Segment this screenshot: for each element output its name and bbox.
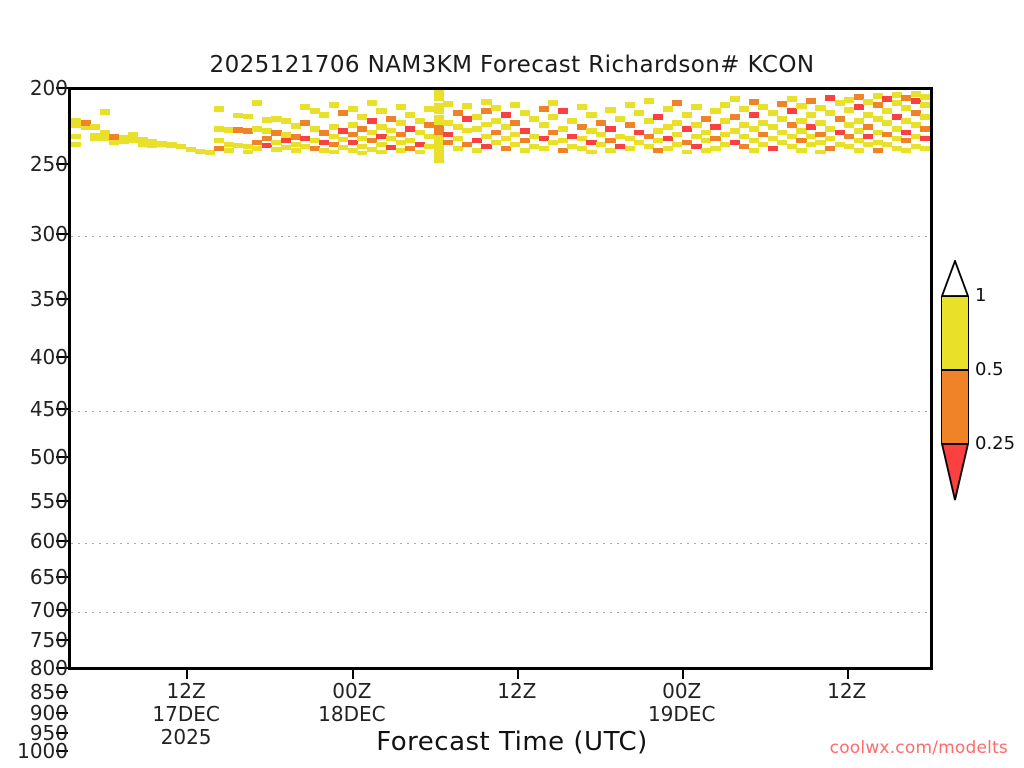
x-tick-label: 12Z (827, 680, 866, 703)
heatmap-cell (873, 148, 883, 153)
colorbar-upper-arrow-icon (941, 260, 969, 297)
heatmap-cell (491, 105, 501, 111)
heatmap-cell (653, 114, 663, 120)
heatmap-cell (472, 114, 482, 120)
heatmap-cell (396, 104, 406, 110)
heatmap-cell (443, 101, 453, 107)
y-tick-label: 250 (6, 152, 68, 176)
colorbar-tick-label: 0.5 (975, 359, 1004, 380)
heatmap-cell (319, 112, 329, 118)
heatmap-cell (672, 100, 682, 106)
heatmap-cell (596, 132, 606, 137)
heatmap-cell (539, 146, 549, 151)
heatmap-cell (701, 130, 711, 135)
y-tick-label: 750 (6, 628, 68, 652)
heatmap-cell (548, 100, 558, 106)
heatmap-cell (720, 102, 730, 108)
watermark: coolwx.com/modelts (830, 738, 1008, 758)
heatmap-cell (329, 150, 339, 154)
y-tick-label: 350 (6, 287, 68, 311)
x-tick-label: 00Z19DEC (648, 680, 715, 726)
y-tick-label: 300 (6, 222, 68, 246)
heatmap-cell (625, 146, 635, 151)
heatmap-cell (376, 150, 386, 154)
colorbar-legend: 10.50.25 (941, 296, 969, 448)
y-tick-label: 500 (6, 445, 68, 469)
heatmap-cell (548, 114, 558, 120)
heatmap-cell (539, 106, 549, 112)
heatmap-cell (558, 126, 568, 132)
heatmap-cell (434, 90, 444, 101)
y-tick-label: 800 (6, 656, 68, 680)
heatmap-cell (920, 94, 930, 100)
heatmap-cell (577, 104, 587, 110)
heatmap-cell (453, 136, 463, 141)
heatmap-cell (682, 150, 692, 154)
heatmap-cell (586, 112, 596, 118)
heatmap-cell (920, 126, 930, 132)
x-tick-mark (186, 670, 188, 679)
y-tick-label: 700 (6, 598, 68, 622)
heatmap-cell (920, 102, 930, 108)
heatmap-cell (424, 144, 434, 149)
heatmap-cell (539, 122, 549, 128)
heatmap-cell (100, 109, 110, 115)
heatmap-cell (367, 100, 377, 106)
heatmap-cell (701, 116, 711, 122)
heatmap-cell (710, 124, 720, 130)
heatmap-cell (710, 108, 720, 114)
y-tick-label: 200 (6, 76, 68, 100)
y-tick-label: 400 (6, 345, 68, 369)
heatmap-cell (682, 112, 692, 118)
heatmap-cell (625, 102, 635, 108)
heatmap-cell (586, 150, 596, 154)
heatmap-cell (510, 102, 520, 108)
heatmap-cell (376, 108, 386, 114)
heatmap-cell (663, 106, 673, 112)
heatmap-cell (920, 146, 930, 151)
heatmap-cell (749, 148, 759, 153)
heatmap-cell (854, 148, 864, 153)
heatmap-cell (224, 148, 234, 153)
heatmap-cell (806, 112, 816, 118)
colorbar-tick-label: 1 (975, 285, 986, 306)
heatmap-cell (796, 148, 806, 153)
heatmap-cell (491, 130, 501, 135)
x-tick-mark (682, 670, 684, 679)
y-tick-label: 600 (6, 529, 68, 553)
heatmap-cell (510, 120, 520, 126)
x-tick-mark (847, 670, 849, 679)
heatmap-cell (424, 134, 434, 139)
x-tick-label: 00Z18DEC (318, 680, 385, 726)
colorbar-tick-label: 0.25 (975, 433, 1015, 454)
colorbar-band-mid (941, 370, 969, 444)
heatmap-cell (920, 136, 930, 141)
x-tick-mark (352, 670, 354, 679)
heatmap-cell (243, 114, 253, 119)
x-tick-label: 12Z (497, 680, 536, 703)
x-tick-mark (517, 670, 519, 679)
heatmap-cell (625, 122, 635, 128)
heatmap-cells (71, 90, 930, 667)
colorbar-lower-arrow-icon (941, 443, 969, 501)
heatmap-cell (558, 108, 568, 114)
heatmap-cell (434, 152, 444, 163)
y-axis: 2002503003504004505005506006507007508008… (0, 87, 68, 670)
heatmap-cell (605, 107, 615, 113)
heatmap-cell (71, 142, 81, 147)
heatmap-cell (730, 96, 740, 102)
heatmap-cell (424, 122, 434, 128)
y-tick-label: 550 (6, 489, 68, 513)
heatmap-cell (462, 103, 472, 109)
heatmap-cell (768, 146, 778, 151)
heatmap-cell (71, 134, 81, 139)
heatmap-cell (644, 98, 654, 104)
heatmap-cell (605, 126, 615, 132)
heatmap-cell (634, 110, 644, 116)
y-tick-label: 450 (6, 397, 68, 421)
heatmap-cell (415, 150, 425, 154)
heatmap-cell (424, 106, 434, 112)
heatmap-cell (749, 112, 759, 118)
page-title: 2025121706 NAM3KM Forecast Richardson# K… (0, 52, 1024, 78)
heatmap-cell (691, 122, 701, 128)
heatmap-cell (214, 106, 224, 112)
heatmap-cell (329, 102, 339, 108)
heatmap-cell (396, 132, 406, 137)
heatmap-cell (348, 106, 358, 112)
colorbar-band-high (941, 296, 969, 370)
heatmap-cell (501, 112, 511, 118)
plot-area (68, 87, 933, 670)
heatmap-cell (672, 132, 682, 137)
heatmap-cell (252, 100, 262, 106)
heatmap-cell (787, 96, 797, 102)
heatmap-cell (825, 136, 835, 141)
forecast-time-height-figure: 2025121706 NAM3KM Forecast Richardson# K… (0, 0, 1024, 768)
heatmap-cell (920, 114, 930, 120)
y-tick-label: 650 (6, 565, 68, 589)
heatmap-cell (691, 104, 701, 110)
heatmap-cell (730, 114, 740, 120)
heatmap-cell (806, 98, 816, 104)
